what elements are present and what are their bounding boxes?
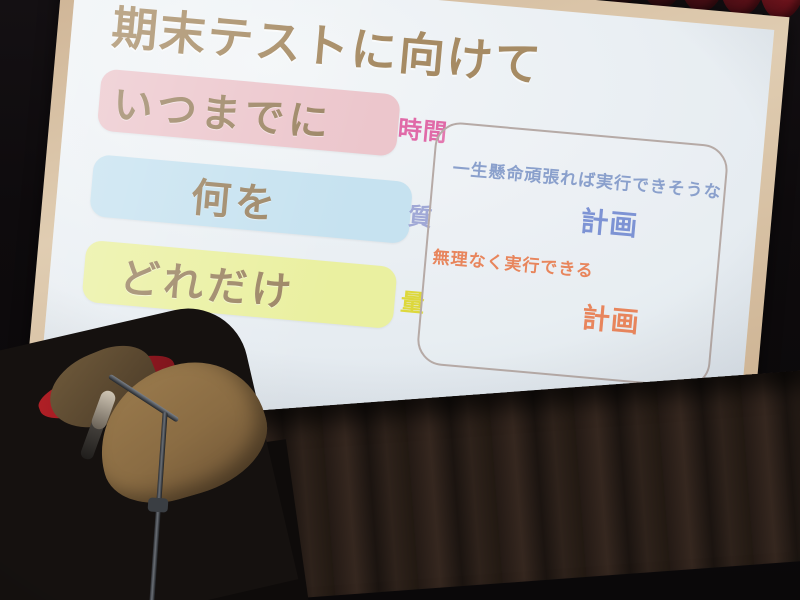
photo-scene: 期末テストに向けて いつまでに 時間 何を 質 どれだけ xyxy=(0,0,800,600)
callout-line: 一生懸命頑張れば実行できそうな xyxy=(452,154,723,203)
callout-keyword: 計画 xyxy=(580,296,641,341)
plan-callout-box: 一生懸命頑張れば実行できそうな 計画 無理なく実行できる 計画 xyxy=(415,120,730,389)
callout-line: 無理なく実行できる xyxy=(432,243,595,282)
microphone-clamp xyxy=(148,497,169,512)
callout-keyword: 計画 xyxy=(579,200,640,245)
criteria-label: いつまでに xyxy=(111,72,335,149)
criteria-label: 何を xyxy=(189,165,282,231)
